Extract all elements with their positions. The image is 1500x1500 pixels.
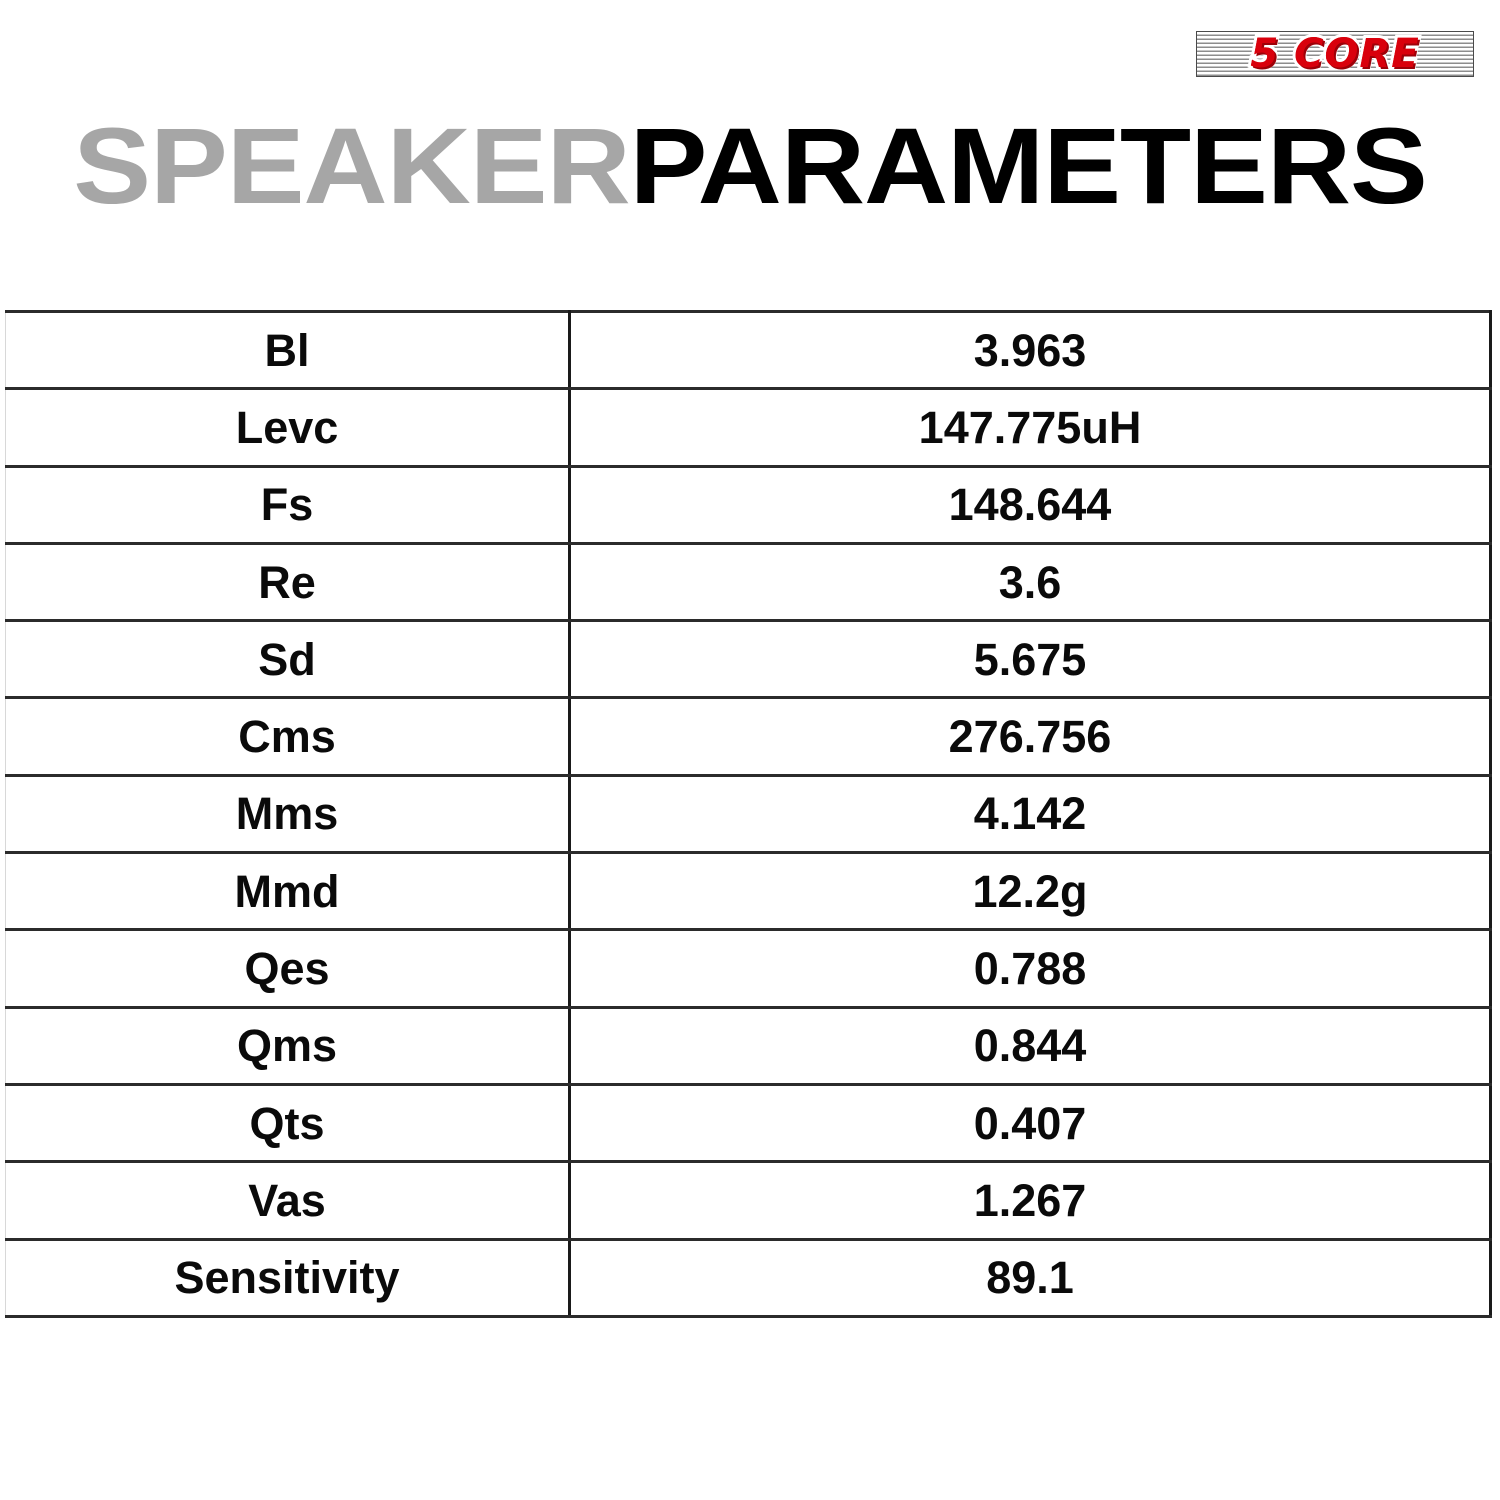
- page-title: SPEAKERPARAMETERS: [0, 112, 1500, 220]
- parameter-value: 148.644: [570, 466, 1491, 543]
- parameter-label: Levc: [6, 389, 570, 466]
- parameter-value: 89.1: [570, 1239, 1491, 1316]
- parameter-value: 0.788: [570, 930, 1491, 1007]
- parameter-label: Sensitivity: [6, 1239, 570, 1316]
- parameter-label: Mms: [6, 775, 570, 852]
- parameter-value: 1.267: [570, 1162, 1491, 1239]
- parameter-value: 147.775uH: [570, 389, 1491, 466]
- parameters-table-body: Bl3.963Levc147.775uHFs148.644Re3.6Sd5.67…: [6, 312, 1491, 1317]
- page-title-strong-word: PARAMETERS: [630, 105, 1427, 226]
- speaker-parameters-table: Bl3.963Levc147.775uHFs148.644Re3.6Sd5.67…: [5, 310, 1492, 1318]
- parameter-label: Qms: [6, 1007, 570, 1084]
- parameter-label: Qes: [6, 930, 570, 1007]
- table-row: Re3.6: [6, 543, 1491, 620]
- parameter-value: 0.407: [570, 1084, 1491, 1161]
- table-row: Fs148.644: [6, 466, 1491, 543]
- parameter-value: 12.2g: [570, 853, 1491, 930]
- parameter-label: Qts: [6, 1084, 570, 1161]
- logo-wordmark: 5 CORE: [1196, 31, 1474, 77]
- table-row: Qes0.788: [6, 930, 1491, 1007]
- parameter-value: 0.844: [570, 1007, 1491, 1084]
- parameter-label: Cms: [6, 698, 570, 775]
- parameter-value: 3.6: [570, 543, 1491, 620]
- table-row: Cms276.756: [6, 698, 1491, 775]
- brand-logo: 5 CORE 5 CORE: [1196, 31, 1474, 77]
- table-row: Qts0.407: [6, 1084, 1491, 1161]
- table-row: Bl3.963: [6, 312, 1491, 389]
- parameter-label: Vas: [6, 1162, 570, 1239]
- parameter-value: 276.756: [570, 698, 1491, 775]
- parameter-label: Fs: [6, 466, 570, 543]
- table-row: Levc147.775uH: [6, 389, 1491, 466]
- table-row: Mmd12.2g: [6, 853, 1491, 930]
- parameter-label: Mmd: [6, 853, 570, 930]
- parameter-label: Sd: [6, 621, 570, 698]
- parameter-value: 4.142: [570, 775, 1491, 852]
- parameter-label: Bl: [6, 312, 570, 389]
- table-row: Mms4.142: [6, 775, 1491, 852]
- table-row: Sd5.675: [6, 621, 1491, 698]
- table-row: Qms0.844: [6, 1007, 1491, 1084]
- parameter-label: Re: [6, 543, 570, 620]
- parameter-value: 5.675: [570, 621, 1491, 698]
- table-row: Sensitivity89.1: [6, 1239, 1491, 1316]
- parameter-value: 3.963: [570, 312, 1491, 389]
- table-row: Vas1.267: [6, 1162, 1491, 1239]
- page-title-muted-word: SPEAKER: [73, 105, 629, 226]
